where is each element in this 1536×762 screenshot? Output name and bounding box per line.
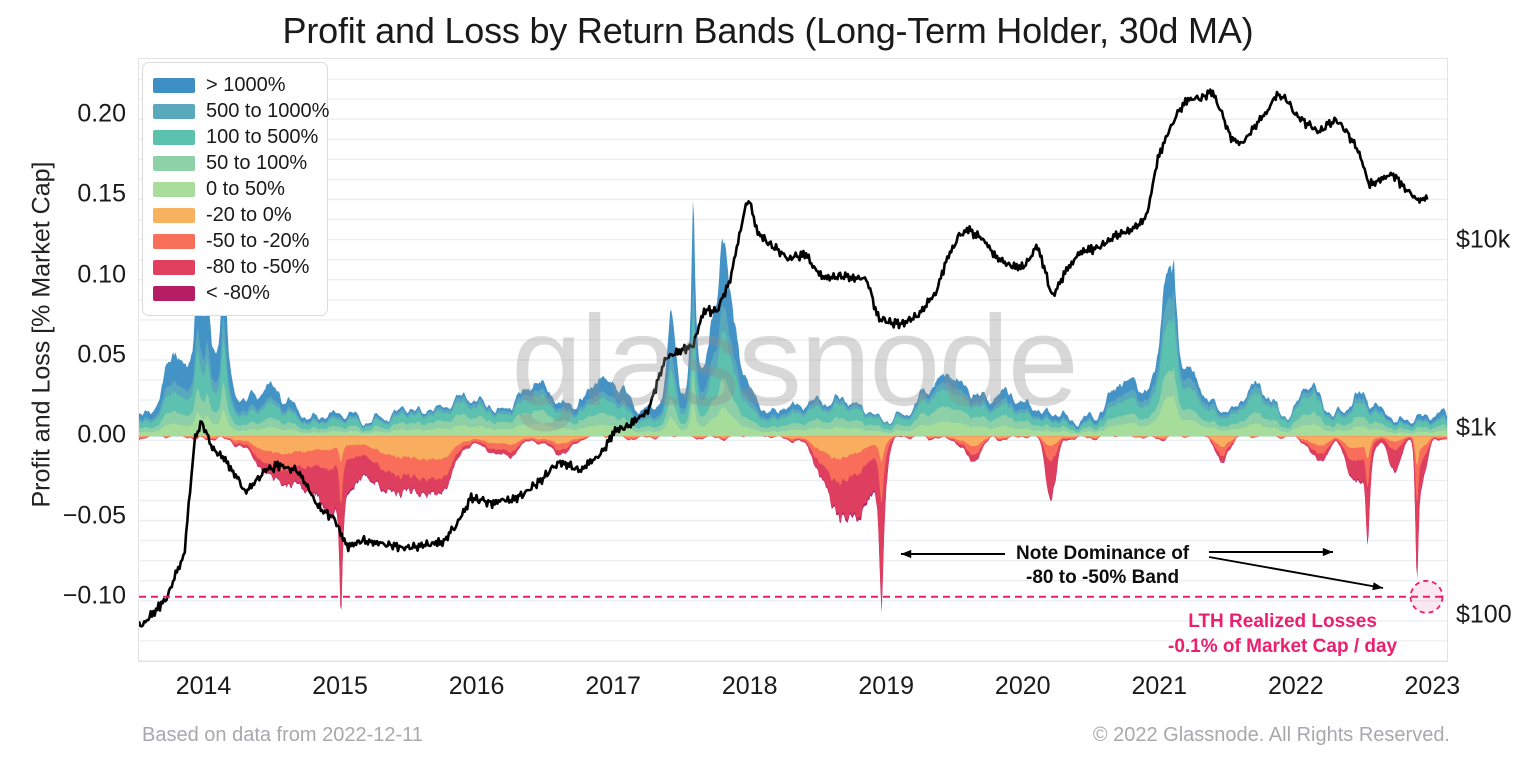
legend-item[interactable]: > 1000% xyxy=(153,72,317,98)
legend-item[interactable]: -80 to -50% xyxy=(153,254,317,280)
x-tick-label: 2016 xyxy=(449,672,505,701)
legend-label: 0 to 50% xyxy=(206,178,285,201)
legend-label: -20 to 0% xyxy=(206,204,292,227)
legend-item[interactable]: 100 to 500% xyxy=(153,124,317,150)
x-tick-label: 2017 xyxy=(585,672,641,701)
x-tick-label: 2015 xyxy=(312,672,368,701)
x-tick-label: 2023 xyxy=(1405,672,1461,701)
legend-label: 50 to 100% xyxy=(206,152,307,175)
chart-legend: > 1000%500 to 1000%100 to 500%50 to 100%… xyxy=(142,62,328,316)
annotation-lth-losses: LTH Realized Losses -0.1% of Market Cap … xyxy=(1168,610,1397,659)
legend-label: 500 to 1000% xyxy=(206,100,329,123)
x-tick-label: 2018 xyxy=(722,672,778,701)
annotation-note-line1: Note Dominance of xyxy=(1016,542,1189,566)
legend-label: < -80% xyxy=(206,282,270,305)
annotation-losses-line1: LTH Realized Losses xyxy=(1168,610,1397,635)
annotation-note-line2: -80 to -50% Band xyxy=(1016,566,1189,590)
btc-price-line xyxy=(139,90,1427,627)
legend-item[interactable]: 50 to 100% xyxy=(153,150,317,176)
legend-swatch xyxy=(153,182,195,197)
legend-label: -80 to -50% xyxy=(206,256,309,279)
footer-copyright: © 2022 Glassnode. All Rights Reserved. xyxy=(1093,724,1450,747)
legend-swatch xyxy=(153,130,195,145)
legend-swatch xyxy=(153,234,195,249)
legend-swatch xyxy=(153,156,195,171)
annotation-note-dominance: Note Dominance of -80 to -50% Band xyxy=(1016,542,1189,590)
legend-label: -50 to -20% xyxy=(206,230,309,253)
x-tick-label: 2020 xyxy=(995,672,1051,701)
plot-area: glassnode xyxy=(138,58,1448,662)
legend-swatch xyxy=(153,208,195,223)
legend-swatch xyxy=(153,78,195,93)
legend-item[interactable]: < -80% xyxy=(153,280,317,306)
x-tick-label: 2014 xyxy=(176,672,232,701)
legend-swatch xyxy=(153,104,195,119)
legend-swatch xyxy=(153,286,195,301)
legend-label: 100 to 500% xyxy=(206,126,318,149)
marker-circle xyxy=(1411,581,1443,613)
legend-item[interactable]: -50 to -20% xyxy=(153,228,317,254)
chart-root: Profit and Loss by Return Bands (Long-Te… xyxy=(0,0,1536,762)
legend-swatch xyxy=(153,260,195,275)
plot-canvas xyxy=(139,59,1447,661)
x-tick-label: 2019 xyxy=(858,672,914,701)
x-tick-label: 2021 xyxy=(1131,672,1187,701)
legend-item[interactable]: 500 to 1000% xyxy=(153,98,317,124)
legend-label: > 1000% xyxy=(206,74,286,97)
x-tick-label: 2022 xyxy=(1268,672,1324,701)
legend-item[interactable]: -20 to 0% xyxy=(153,202,317,228)
footer-data-source: Based on data from 2022-12-11 xyxy=(142,724,423,747)
legend-item[interactable]: 0 to 50% xyxy=(153,176,317,202)
gridlines xyxy=(139,79,1447,661)
annotation-losses-line2: -0.1% of Market Cap / day xyxy=(1168,635,1397,660)
